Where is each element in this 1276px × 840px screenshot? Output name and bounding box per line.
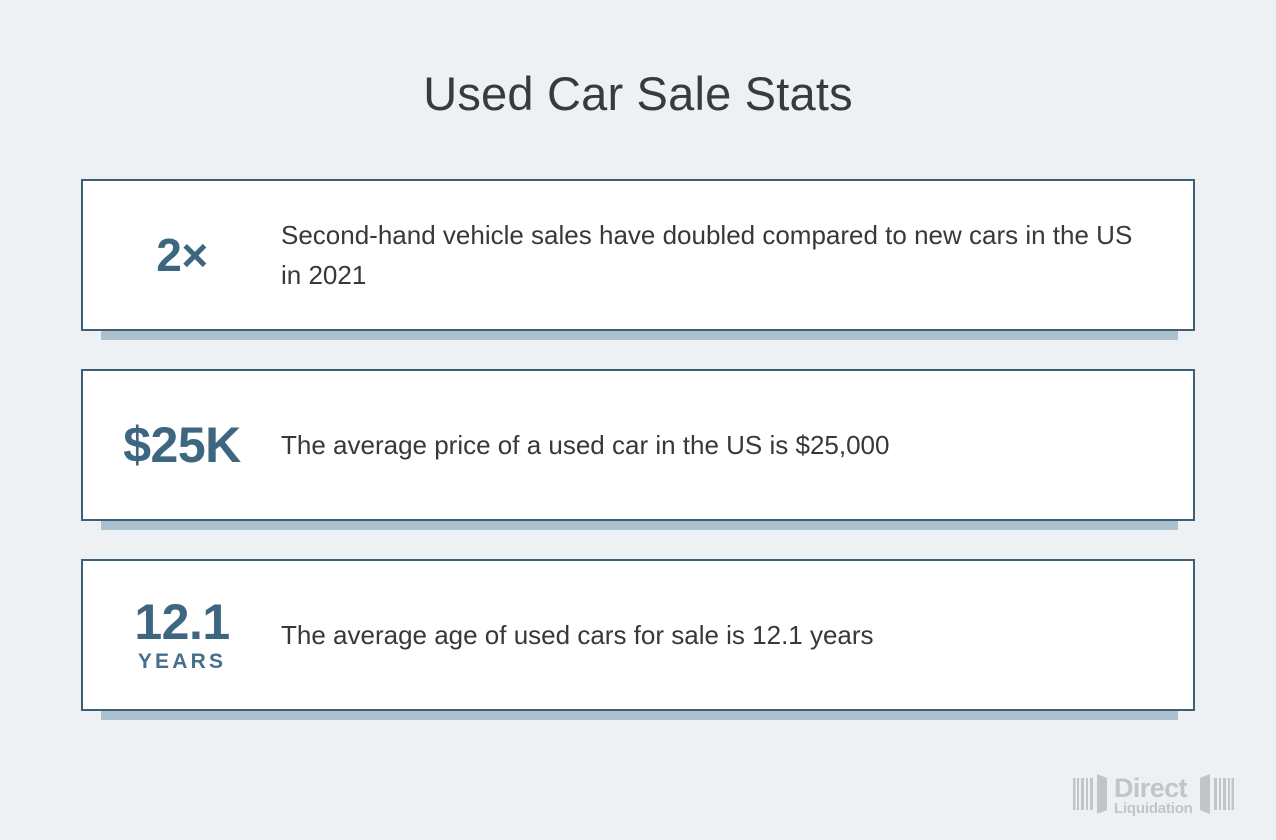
card-shadow <box>101 521 1178 530</box>
stat-card: 2× Second-hand vehicle sales have double… <box>81 179 1195 331</box>
brand-logo: Direct Liquidation <box>1073 770 1255 822</box>
stat-card-wrapper: 2× Second-hand vehicle sales have double… <box>81 179 1195 331</box>
page-title: Used Car Sale Stats <box>0 66 1276 121</box>
barcode-right-icon <box>1198 772 1234 821</box>
card-shadow <box>101 711 1178 720</box>
stat-value-group: $25K <box>83 419 281 472</box>
stat-card-wrapper: $25K The average price of a used car in … <box>81 369 1195 521</box>
stat-unit-label: YEARS <box>138 650 226 674</box>
barcode-left-icon <box>1073 772 1109 821</box>
stat-value-group: 12.1 YEARS <box>83 596 281 675</box>
stats-list: 2× Second-hand vehicle sales have double… <box>81 179 1195 711</box>
stat-value-group: 2× <box>83 231 281 279</box>
stat-card-wrapper: 12.1 YEARS The average age of used cars … <box>81 559 1195 711</box>
brand-name: Direct <box>1114 776 1193 801</box>
stat-value: 2× <box>156 231 207 279</box>
stat-description: The average age of used cars for sale is… <box>281 615 1193 655</box>
stat-card: 12.1 YEARS The average age of used cars … <box>81 559 1195 711</box>
card-shadow <box>101 331 1178 340</box>
brand-wordmark: Direct Liquidation <box>1109 776 1198 817</box>
stat-value: 12.1 <box>134 596 229 649</box>
stat-description: The average price of a used car in the U… <box>281 425 1193 465</box>
stat-value: $25K <box>123 419 241 472</box>
stat-card: $25K The average price of a used car in … <box>81 369 1195 521</box>
brand-subname: Liquidation <box>1114 801 1193 817</box>
stat-description: Second-hand vehicle sales have doubled c… <box>281 215 1193 295</box>
